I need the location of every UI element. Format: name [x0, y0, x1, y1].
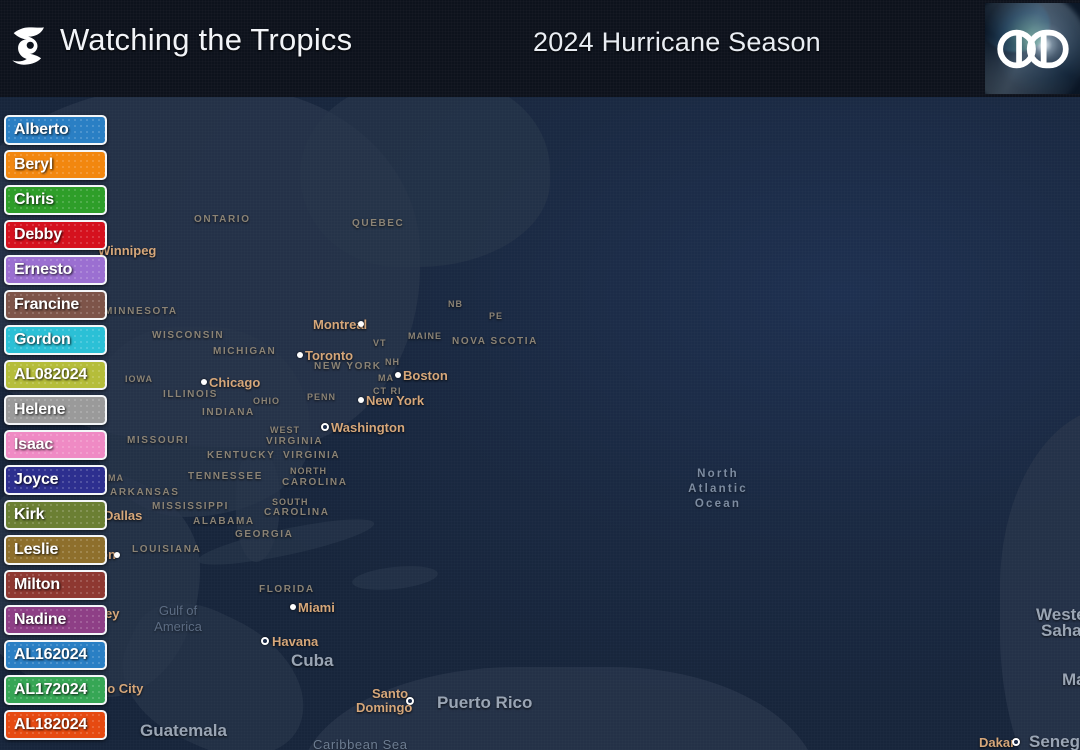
- storm-button-helene[interactable]: Helene: [4, 395, 107, 425]
- hurricane-icon: [8, 20, 54, 72]
- storm-button-label: Milton: [14, 576, 60, 593]
- dd-monogram-icon: [985, 3, 1080, 94]
- storm-button-kirk[interactable]: Kirk: [4, 500, 107, 530]
- state-label: PE: [489, 311, 503, 321]
- hurricane-tracker-app: Watching the Tropics 2024 Hurricane Seas…: [0, 0, 1080, 750]
- storm-button-chris[interactable]: Chris: [4, 185, 107, 215]
- capital-marker: [321, 423, 329, 431]
- storm-button-label: AL162024: [14, 646, 87, 663]
- storm-button-leslie[interactable]: Leslie: [4, 535, 107, 565]
- landmass-canada-east: [300, 97, 550, 267]
- storm-button-label: Debby: [14, 226, 62, 243]
- storm-button-isaac[interactable]: Isaac: [4, 430, 107, 460]
- storm-button-label: AL172024: [14, 681, 87, 698]
- storm-button-label: AL182024: [14, 716, 87, 733]
- brand-logo[interactable]: [985, 3, 1080, 94]
- state-label: FLORIDA: [259, 584, 315, 595]
- country-label: Cuba: [291, 651, 334, 671]
- storm-map[interactable]: NorthAtlanticOceanCaribbean SeaGulf ofAm…: [0, 97, 1080, 750]
- capital-marker: [261, 637, 269, 645]
- capital-marker: [1012, 738, 1020, 746]
- storm-button-label: Nadine: [14, 611, 66, 628]
- storm-button-al162024[interactable]: AL162024: [4, 640, 107, 670]
- storm-button-label: AL082024: [14, 366, 87, 383]
- storm-button-al182024[interactable]: AL182024: [4, 710, 107, 740]
- storm-button-al082024[interactable]: AL082024: [4, 360, 107, 390]
- storm-button-label: Helene: [14, 401, 65, 418]
- storm-button-label: Francine: [14, 296, 79, 313]
- capital-marker: [406, 697, 414, 705]
- state-label: NB: [448, 299, 463, 309]
- storm-button-joyce[interactable]: Joyce: [4, 465, 107, 495]
- city-marker: [297, 352, 303, 358]
- storm-button-ernesto[interactable]: Ernesto: [4, 255, 107, 285]
- ocean-label: NorthAtlanticOcean: [688, 467, 748, 512]
- state-label: MAINE: [408, 331, 442, 341]
- storm-button-label: Ernesto: [14, 261, 72, 278]
- city-marker: [201, 379, 207, 385]
- city-label: Miami: [298, 600, 335, 615]
- city-marker: [358, 321, 364, 327]
- landmass-west-africa: [1000, 407, 1080, 750]
- storm-button-label: Beryl: [14, 156, 53, 173]
- city-marker: [114, 552, 120, 558]
- storm-button-francine[interactable]: Francine: [4, 290, 107, 320]
- city-marker: [290, 604, 296, 610]
- storm-button-debby[interactable]: Debby: [4, 220, 107, 250]
- app-header: Watching the Tropics 2024 Hurricane Seas…: [0, 0, 1080, 97]
- storm-button-label: Isaac: [14, 436, 53, 453]
- storm-button-label: Chris: [14, 191, 54, 208]
- state-label: NOVA SCOTIA: [452, 336, 538, 347]
- season-title: 2024 Hurricane Season: [533, 27, 821, 58]
- page-title: Watching the Tropics: [60, 22, 352, 58]
- landmass-hispaniola: [351, 563, 439, 594]
- city-label: Boston: [403, 368, 448, 383]
- storm-button-alberto[interactable]: Alberto: [4, 115, 107, 145]
- storm-button-label: Alberto: [14, 121, 69, 138]
- storm-button-label: Joyce: [14, 471, 58, 488]
- storm-button-beryl[interactable]: Beryl: [4, 150, 107, 180]
- storm-list[interactable]: AlbertoBerylChrisDebbyErnestoFrancineGor…: [4, 115, 107, 745]
- city-label: Dakar: [979, 735, 1015, 750]
- city-label: Havana: [272, 634, 318, 649]
- landmass-south-america: [300, 667, 820, 750]
- storm-button-label: Gordon: [14, 331, 71, 348]
- storm-button-gordon[interactable]: Gordon: [4, 325, 107, 355]
- storm-button-label: Kirk: [14, 506, 44, 523]
- storm-button-al172024[interactable]: AL172024: [4, 675, 107, 705]
- landmass-cuba: [195, 511, 376, 574]
- city-marker: [395, 372, 401, 378]
- storm-button-milton[interactable]: Milton: [4, 570, 107, 600]
- storm-button-nadine[interactable]: Nadine: [4, 605, 107, 635]
- storm-button-label: Leslie: [14, 541, 58, 558]
- city-marker: [358, 397, 364, 403]
